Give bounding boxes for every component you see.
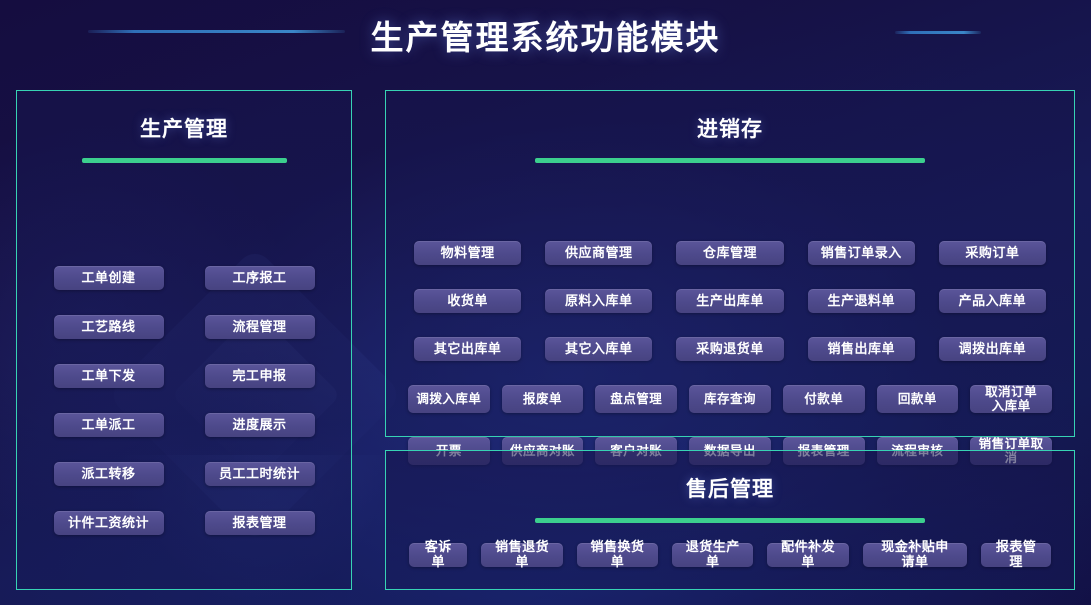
production-module-button-7[interactable]: 进度展示 xyxy=(205,413,315,437)
production-module-button-0[interactable]: 工单创建 xyxy=(54,266,164,290)
panel-underline-aftersales xyxy=(535,518,925,523)
production-button-grid: 工单创建工序报工工艺路线流程管理工单下发完工申报工单派工进度展示派工转移员工工时… xyxy=(17,266,351,535)
inventory-module-button-3-0[interactable]: 调拨入库单 xyxy=(408,385,490,413)
inventory-button-rows: 物料管理供应商管理仓库管理销售订单录入采购订单收货单原料入库单生产出库单生产退料… xyxy=(386,241,1074,465)
panel-production-management: 生产管理 工单创建工序报工工艺路线流程管理工单下发完工申报工单派工进度展示派工转… xyxy=(16,90,352,590)
panel-title-aftersales: 售后管理 xyxy=(386,473,1074,503)
inventory-module-button-1-4[interactable]: 产品入库单 xyxy=(939,289,1046,313)
aftersales-row-1: 客诉单销售退货单销售换货单退货生产单配件补发单现金补贴申请单报表管理 xyxy=(402,543,1058,567)
inventory-module-button-0-1[interactable]: 供应商管理 xyxy=(545,241,652,265)
aftersales-module-button-0-3[interactable]: 退货生产单 xyxy=(672,543,753,567)
inventory-module-button-1-0[interactable]: 收货单 xyxy=(414,289,521,313)
panel-underline-inventory xyxy=(535,158,925,163)
panel-aftersales-management: 售后管理 客诉单销售退货单销售换货单退货生产单配件补发单现金补贴申请单报表管理 xyxy=(385,450,1075,590)
production-module-button-8[interactable]: 派工转移 xyxy=(54,462,164,486)
panel-inventory-management: 进销存 物料管理供应商管理仓库管理销售订单录入采购订单收货单原料入库单生产出库单… xyxy=(385,90,1075,437)
production-module-button-4[interactable]: 工单下发 xyxy=(54,364,164,388)
aftersales-module-button-0-5[interactable]: 现金补贴申请单 xyxy=(863,543,967,567)
production-module-button-2[interactable]: 工艺路线 xyxy=(54,315,164,339)
inventory-module-button-1-3[interactable]: 生产退料单 xyxy=(808,289,915,313)
inventory-module-button-0-2[interactable]: 仓库管理 xyxy=(676,241,783,265)
panel-title-production: 生产管理 xyxy=(17,113,351,143)
inventory-module-button-3-2[interactable]: 盘点管理 xyxy=(595,385,677,413)
inventory-module-button-2-3[interactable]: 销售出库单 xyxy=(808,337,915,361)
inventory-module-button-2-0[interactable]: 其它出库单 xyxy=(414,337,521,361)
production-module-button-10[interactable]: 计件工资统计 xyxy=(54,511,164,535)
inventory-module-button-0-4[interactable]: 采购订单 xyxy=(939,241,1046,265)
aftersales-module-button-0-4[interactable]: 配件补发单 xyxy=(767,543,848,567)
production-module-button-1[interactable]: 工序报工 xyxy=(205,266,315,290)
inventory-module-button-2-1[interactable]: 其它入库单 xyxy=(545,337,652,361)
production-module-button-3[interactable]: 流程管理 xyxy=(205,315,315,339)
production-module-button-5[interactable]: 完工申报 xyxy=(205,364,315,388)
aftersales-button-rows: 客诉单销售退货单销售换货单退货生产单配件补发单现金补贴申请单报表管理 xyxy=(386,543,1074,567)
inventory-module-button-1-2[interactable]: 生产出库单 xyxy=(676,289,783,313)
inventory-module-button-3-6[interactable]: 取消订单 入库单 xyxy=(970,385,1052,413)
page-title: 生产管理系统功能模块 xyxy=(0,11,1091,59)
panel-title-inventory: 进销存 xyxy=(386,113,1074,143)
inventory-module-button-1-1[interactable]: 原料入库单 xyxy=(545,289,652,313)
production-module-button-6[interactable]: 工单派工 xyxy=(54,413,164,437)
inventory-row-4: 调拨入库单报废单盘点管理库存查询付款单回款单取消订单 入库单 xyxy=(402,385,1058,413)
aftersales-module-button-0-2[interactable]: 销售换货单 xyxy=(577,543,658,567)
page-background: 生产管理系统功能模块 生产管理 工单创建工序报工工艺路线流程管理工单下发完工申报… xyxy=(0,0,1091,605)
aftersales-module-button-0-0[interactable]: 客诉单 xyxy=(409,543,467,567)
inventory-module-button-3-5[interactable]: 回款单 xyxy=(877,385,959,413)
inventory-row-2: 收货单原料入库单生产出库单生产退料单产品入库单 xyxy=(402,289,1058,313)
production-module-button-9[interactable]: 员工工时统计 xyxy=(205,462,315,486)
inventory-module-button-0-3[interactable]: 销售订单录入 xyxy=(808,241,915,265)
aftersales-module-button-0-6[interactable]: 报表管理 xyxy=(981,543,1051,567)
inventory-module-button-3-3[interactable]: 库存查询 xyxy=(689,385,771,413)
aftersales-module-button-0-1[interactable]: 销售退货单 xyxy=(481,543,562,567)
panel-underline-production xyxy=(82,158,287,163)
inventory-row-1: 物料管理供应商管理仓库管理销售订单录入采购订单 xyxy=(402,241,1058,265)
inventory-module-button-3-4[interactable]: 付款单 xyxy=(783,385,865,413)
inventory-module-button-2-2[interactable]: 采购退货单 xyxy=(676,337,783,361)
production-module-button-11[interactable]: 报表管理 xyxy=(205,511,315,535)
inventory-module-button-3-1[interactable]: 报废单 xyxy=(502,385,584,413)
inventory-row-3: 其它出库单其它入库单采购退货单销售出库单调拨出库单 xyxy=(402,337,1058,361)
inventory-module-button-0-0[interactable]: 物料管理 xyxy=(414,241,521,265)
inventory-module-button-2-4[interactable]: 调拨出库单 xyxy=(939,337,1046,361)
